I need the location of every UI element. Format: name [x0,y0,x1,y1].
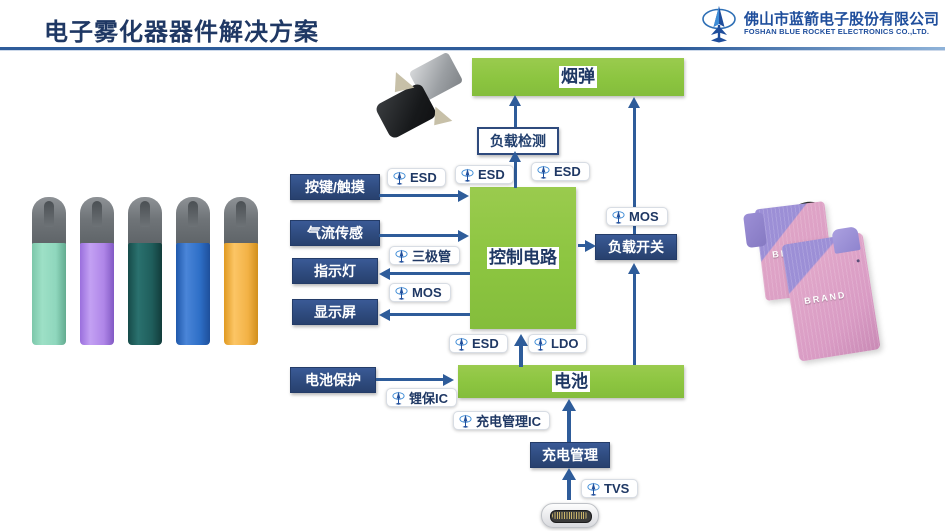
blue-rocket-logo-icon [392,391,405,405]
usb-c-connector-icon [541,503,599,528]
chip-esd-control-top-label: ESD [478,167,505,182]
block-indicator-light-label: 指示灯 [314,261,356,281]
chip-ldo[interactable]: LDO [528,334,587,353]
block-airflow-sensor-label: 气流传感 [307,223,363,243]
slide-canvas: 电子雾化器器件解决方案 佛山市蓝箭电子股份有限公司 FOSHAN BLUE RO… [0,0,945,531]
chip-esd-load-detect-label: ESD [554,164,581,179]
blue-rocket-logo-icon [455,337,468,351]
company-name-cn: 佛山市蓝箭电子股份有限公司 [744,12,939,28]
chip-ldo-label: LDO [551,336,578,351]
vape-pen-4 [176,243,210,345]
chip-esd-battery-label: ESD [472,336,499,351]
vape-pen-1 [32,243,66,345]
blue-rocket-logo-icon [393,171,406,185]
chip-mos-load-switch-label: MOS [629,209,659,224]
vape-pen-3 [128,243,162,345]
page-title: 电子雾化器器件解决方案 [44,12,319,47]
blue-rocket-logo-icon [537,165,550,179]
blue-rocket-logo-icon [459,414,472,428]
chip-esd-load-detect[interactable]: ESD [531,162,590,181]
vape-pen-5 [224,243,258,345]
block-load-switch[interactable]: 负载开关 [595,234,677,260]
block-pod-cartridge[interactable]: 烟弹 [472,58,684,96]
chip-li-protect-ic-label: 锂保IC [409,388,448,407]
chip-mos-display-label: MOS [412,285,442,300]
block-control-circuit-label: 控制电路 [487,247,559,268]
block-charge-management-label: 充电管理 [542,445,598,465]
blue-rocket-logo-icon [534,337,547,351]
blue-rocket-logo-icon [612,210,625,224]
chip-esd-key-touch[interactable]: ESD [387,168,446,187]
chip-triode-label: 三极管 [412,246,451,265]
blue-rocket-logo-icon [587,482,600,496]
pod-mouthpiece-back [743,212,767,248]
chip-triode[interactable]: 三极管 [389,246,460,265]
block-load-switch-label: 负载开关 [608,237,664,257]
blue-rocket-logo-icon [461,168,474,182]
block-key-touch-label: 按键/触摸 [305,177,365,197]
block-battery-protection-label: 电池保护 [305,370,361,390]
blue-rocket-logo-icon [701,5,737,43]
pod-mouthpiece-front [831,226,860,254]
pod-cartridge-image [372,56,476,144]
chip-li-protect-ic[interactable]: 锂保IC [386,388,457,407]
chip-tvs[interactable]: TVS [581,479,638,498]
block-display-screen[interactable]: 显示屏 [292,299,378,325]
block-airflow-sensor[interactable]: 气流传感 [290,220,380,246]
block-charge-management[interactable]: 充电管理 [530,442,610,468]
block-battery[interactable]: 电池 [458,365,684,398]
chip-tvs-label: TVS [604,481,629,496]
pod-device-front: BRAND [781,232,880,361]
vape-pen-2 [80,243,114,345]
chip-mos-load-switch[interactable]: MOS [606,207,668,226]
chip-esd-control-top[interactable]: ESD [455,165,514,184]
block-battery-label: 电池 [552,371,590,392]
block-battery-protection[interactable]: 电池保护 [290,367,376,393]
chip-charge-mgmt-ic[interactable]: 充电管理IC [453,411,550,430]
company-name-en: FOSHAN BLUE ROCKET ELECTRONICS CO.,LTD. [744,27,939,36]
block-load-detect-label: 负载检测 [490,131,546,151]
company-logo: 佛山市蓝箭电子股份有限公司 FOSHAN BLUE ROCKET ELECTRO… [701,4,939,44]
block-key-touch[interactable]: 按键/触摸 [290,174,380,200]
header-divider-thin [0,50,945,51]
block-indicator-light[interactable]: 指示灯 [292,258,378,284]
chip-esd-battery[interactable]: ESD [449,334,508,353]
chip-mos-display[interactable]: MOS [389,283,451,302]
chip-charge-mgmt-ic-label: 充电管理IC [476,411,541,430]
block-display-screen-label: 显示屏 [314,302,356,322]
block-pod-cartridge-label: 烟弹 [559,66,597,87]
chip-esd-key-touch-label: ESD [410,170,437,185]
blue-rocket-logo-icon [395,286,408,300]
blue-rocket-logo-icon [395,249,408,263]
block-control-circuit[interactable]: 控制电路 [470,187,576,329]
